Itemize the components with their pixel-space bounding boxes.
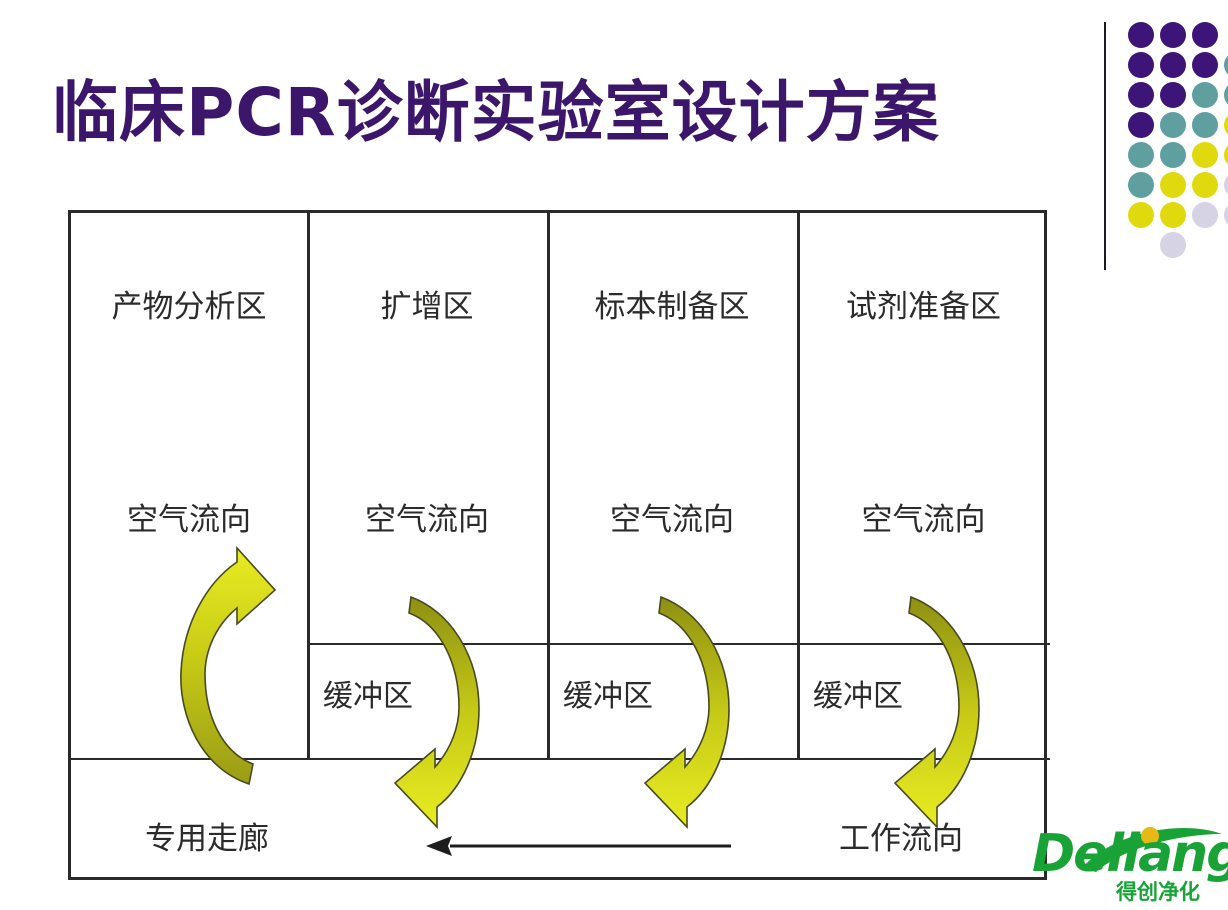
deco-dot [1192,82,1218,108]
slide-canvas: 临床PCR诊断实验室设计方案 产物分析区 扩增区 标本制备区 试剂准备区 空气流… [0,0,1228,910]
air-arrow-down-1 [381,591,491,831]
air-arrow-up-0 [171,546,281,796]
deco-dot [1192,202,1218,228]
brand-logo: Deliang 得创净化 [1032,828,1228,908]
deco-dot [1160,82,1186,108]
deco-dot [1192,142,1218,168]
deco-dot [1160,142,1186,168]
zone-label-1: 扩增区 [307,281,547,326]
zone-label-0: 产物分析区 [71,281,307,326]
deco-dot [1128,202,1154,228]
air-arrow-down-2 [631,591,741,831]
deco-dot [1128,172,1154,198]
deco-dot [1160,22,1186,48]
deco-dot [1160,232,1186,258]
deco-dot [1128,22,1154,48]
deco-dot [1192,112,1218,138]
airflow-label-0: 空气流向 [71,494,307,539]
page-title: 临床PCR诊断实验室设计方案 [52,78,972,147]
workflow-direction-arrow [426,831,736,861]
deco-dot [1128,82,1154,108]
airflow-label-2: 空气流向 [547,494,797,539]
corridor-label: 专用走廊 [145,813,269,858]
air-arrow-down-3 [881,591,991,831]
airflow-label-3: 空气流向 [797,494,1050,539]
zone-label-2: 标本制备区 [547,281,797,326]
deco-dot [1128,112,1154,138]
deco-dot [1192,52,1218,78]
logo-wordmark: Deliang [1032,828,1228,880]
decorative-dot-grid [1100,14,1228,264]
logo-subtitle: 得创净化 [1116,876,1200,906]
deco-dot [1224,202,1228,228]
vertical-rule [1104,22,1106,270]
deco-dot [1192,172,1218,198]
deco-dot [1160,172,1186,198]
deco-dot [1192,22,1218,48]
deco-dot [1224,52,1228,78]
deco-dot [1224,82,1228,108]
deco-dot [1160,202,1186,228]
airflow-label-1: 空气流向 [307,494,547,539]
zone-label-3: 试剂准备区 [797,281,1050,326]
deco-dot [1128,52,1154,78]
deco-dot [1128,142,1154,168]
deco-dot [1224,172,1228,198]
deco-dot [1224,142,1228,168]
deco-dot [1224,112,1228,138]
lab-layout-diagram: 产物分析区 扩增区 标本制备区 试剂准备区 空气流向 空气流向 空气流向 空气流… [68,210,1047,880]
deco-dot [1160,112,1186,138]
deco-dot [1160,52,1186,78]
